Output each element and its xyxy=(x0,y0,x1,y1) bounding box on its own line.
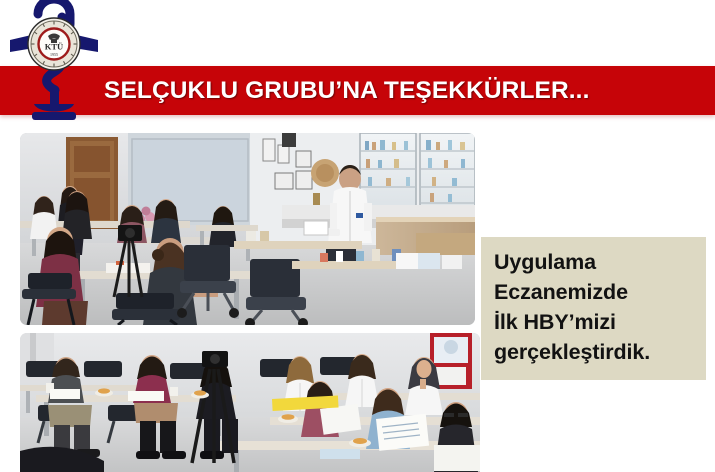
caption-box: Uygulama Eczanemizde İlk HBY’mizi gerçek… xyxy=(481,237,706,380)
caption-line-2: Eczanemizde xyxy=(494,277,700,307)
svg-text:KTÜ: KTÜ xyxy=(45,42,63,52)
ktu-pharmacy-faculty-logo: KTÜ 1955 xyxy=(8,0,100,122)
caption-line-4: gerçekleştirdik. xyxy=(494,337,700,367)
svg-text:1955: 1955 xyxy=(50,52,58,57)
caption-line-3: İlk HBY’mizi xyxy=(494,307,700,337)
university-seal-icon: KTÜ 1955 xyxy=(28,18,80,70)
photo-bottom-content xyxy=(20,333,480,472)
caption-line-1: Uygulama xyxy=(494,247,700,277)
photo-classroom-audience xyxy=(20,333,480,472)
photo-top-content xyxy=(20,133,475,325)
bowl-of-hygieia-icon: KTÜ 1955 xyxy=(8,0,100,122)
title-banner: SELÇUKLU GRUBU’NA TEŞEKKÜRLER... xyxy=(0,66,715,115)
caption-text: Uygulama Eczanemizde İlk HBY’mizi gerçek… xyxy=(494,247,700,367)
presentation-slide: SELÇUKLU GRUBU’NA TEŞEKKÜRLER... xyxy=(0,0,715,472)
slide-title: SELÇUKLU GRUBU’NA TEŞEKKÜRLER... xyxy=(104,66,705,115)
photo-classroom-training-pharmacy xyxy=(20,133,475,325)
